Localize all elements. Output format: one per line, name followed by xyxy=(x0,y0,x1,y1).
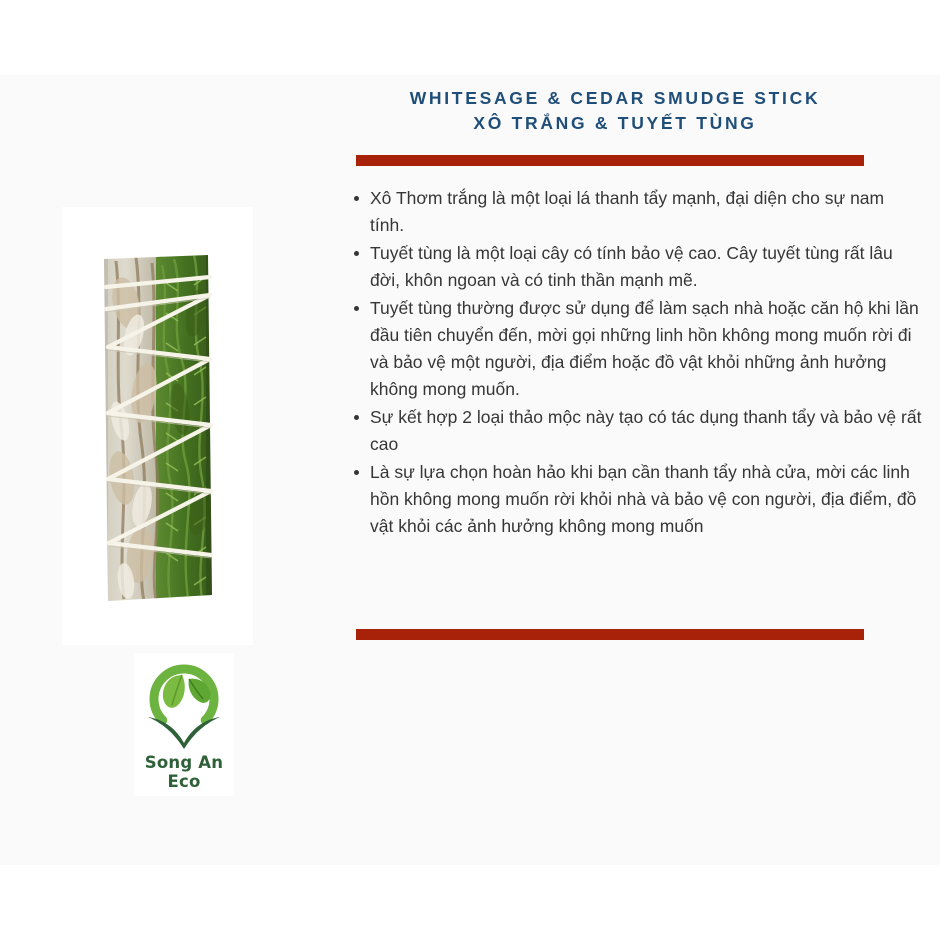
right-column: WHITESAGE & CEDAR SMUDGE STICK XÔ TRẮNG … xyxy=(330,75,940,865)
list-item: Xô Thơm trắng là một loại lá thanh tẩy m… xyxy=(370,185,923,239)
brand-logo-card: Song An Eco xyxy=(134,653,234,796)
list-item: Là sự lựa chọn hoàn hảo khi bạn cần than… xyxy=(370,459,923,540)
smudge-stick-image xyxy=(96,243,218,615)
leaf-circle-eco-icon xyxy=(142,659,226,751)
product-image-frame xyxy=(62,207,253,645)
brand-wordmark: Song An Eco xyxy=(134,753,234,791)
left-column: Song An Eco xyxy=(0,75,330,865)
divider-bar-top xyxy=(356,155,864,166)
list-item: Tuyết tùng thường được sử dụng để làm sạ… xyxy=(370,295,923,403)
feature-list: Xô Thơm trắng là một loại lá thanh tẩy m… xyxy=(347,185,923,541)
product-infographic-page: Song An Eco WHITESAGE & CEDAR SMUDGE STI… xyxy=(0,0,940,940)
title-line-english: WHITESAGE & CEDAR SMUDGE STICK xyxy=(330,86,900,111)
divider-bar-bottom xyxy=(356,629,864,640)
list-item: Sự kết hợp 2 loại thảo mộc này tạo có tá… xyxy=(370,404,923,458)
list-item: Tuyết tùng là một loại cây có tính bảo v… xyxy=(370,240,923,294)
page-title: WHITESAGE & CEDAR SMUDGE STICK XÔ TRẮNG … xyxy=(330,86,900,136)
title-line-vietnamese: XÔ TRẮNG & TUYẾT TÙNG xyxy=(330,111,900,136)
